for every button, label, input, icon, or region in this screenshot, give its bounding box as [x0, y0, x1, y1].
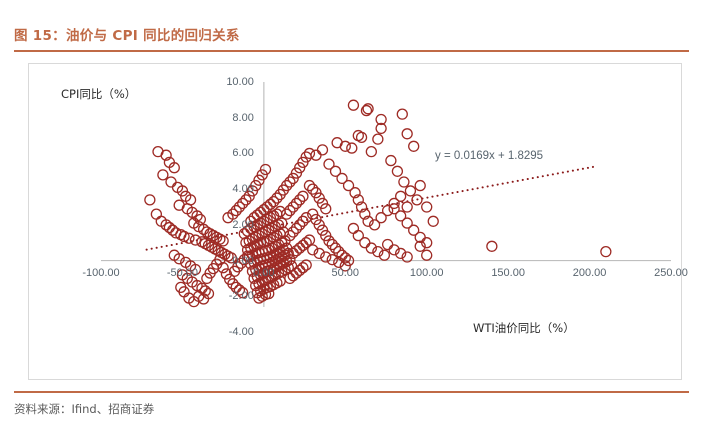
- scatter-point: [151, 209, 161, 219]
- scatter-point: [487, 241, 497, 251]
- scatter-point: [366, 147, 376, 157]
- x-tick-label: -50.00: [167, 267, 198, 279]
- y-tick-label: 6.00: [202, 147, 254, 159]
- scatter-point: [348, 100, 358, 110]
- scatter-point: [386, 156, 396, 166]
- scatter-point: [422, 202, 432, 212]
- source-note: 资料来源：Ifind、招商证券: [14, 401, 154, 417]
- scatter-point: [360, 238, 370, 248]
- x-tick-label: -100.00: [82, 267, 119, 279]
- y-tick-label: -4.00: [202, 326, 254, 338]
- y-tick-label: 4.00: [202, 183, 254, 195]
- y-tick-label: 10.00: [202, 76, 254, 88]
- scatter-point: [298, 240, 308, 250]
- scatter-point: [347, 143, 357, 153]
- scatter-point: [317, 145, 327, 155]
- y-tick-label: 2.00: [202, 219, 254, 231]
- x-tick-label: 0.00: [253, 267, 274, 279]
- scatter-point: [304, 235, 314, 245]
- scatter-point: [327, 255, 337, 265]
- scatter-point: [399, 177, 409, 187]
- x-tick-label: 250.00: [654, 267, 688, 279]
- scatter-point: [402, 202, 412, 212]
- scatter-point: [428, 216, 438, 226]
- scatter-point: [291, 268, 301, 278]
- scatter-point: [295, 265, 305, 275]
- scatter-point: [357, 132, 367, 142]
- footer-divider: [14, 391, 689, 393]
- scatter-point: [415, 181, 425, 191]
- x-tick-label: 200.00: [573, 267, 607, 279]
- x-tick-label: 100.00: [410, 267, 444, 279]
- figure-title-block: 图 15：油价与 CPI 同比的回归关系: [14, 24, 689, 52]
- scatter-point: [397, 109, 407, 119]
- trendline-equation-label: y = 0.0169x + 1.8295: [435, 150, 543, 162]
- scatter-point: [265, 199, 275, 209]
- y-tick-label: 8.00: [202, 112, 254, 124]
- scatter-point: [288, 271, 298, 281]
- scatter-point: [422, 250, 432, 260]
- scatter-point: [405, 186, 415, 196]
- scatter-point: [145, 195, 155, 205]
- scatter-point: [373, 134, 383, 144]
- y-axis-title: CPI同比（%）: [61, 86, 136, 102]
- x-axis-title: WTI油价同比（%）: [473, 320, 575, 336]
- x-tick-label: 150.00: [491, 267, 525, 279]
- scatter-point: [340, 141, 350, 151]
- scatter-point: [285, 273, 295, 283]
- scatter-point: [392, 166, 402, 176]
- scatter-point: [164, 223, 174, 233]
- scatter-point: [158, 170, 168, 180]
- scatter-point: [301, 260, 311, 270]
- x-tick-label: 50.00: [332, 267, 360, 279]
- y-tick-label: -2.00: [202, 290, 254, 302]
- scatter-point: [348, 223, 358, 233]
- chart-container: CPI同比（%） WTI油价同比（%） y = 0.0169x + 1.8295…: [28, 63, 682, 380]
- scatter-point: [383, 240, 393, 250]
- scatter-point: [295, 243, 305, 253]
- scatter-plot-svg: [29, 64, 681, 379]
- scatter-point: [396, 191, 406, 201]
- scatter-point: [311, 150, 321, 160]
- y-tick-label: 0.00: [202, 255, 254, 267]
- scatter-points-group: [145, 100, 611, 306]
- scatter-point: [166, 177, 176, 187]
- scatter-point: [402, 129, 412, 139]
- scatter-point: [190, 235, 200, 245]
- title-divider: [14, 50, 689, 52]
- scatter-point: [601, 247, 611, 257]
- scatter-point: [298, 263, 308, 273]
- scatter-point: [409, 141, 419, 151]
- page-title: 图 15：油价与 CPI 同比的回归关系: [14, 24, 689, 44]
